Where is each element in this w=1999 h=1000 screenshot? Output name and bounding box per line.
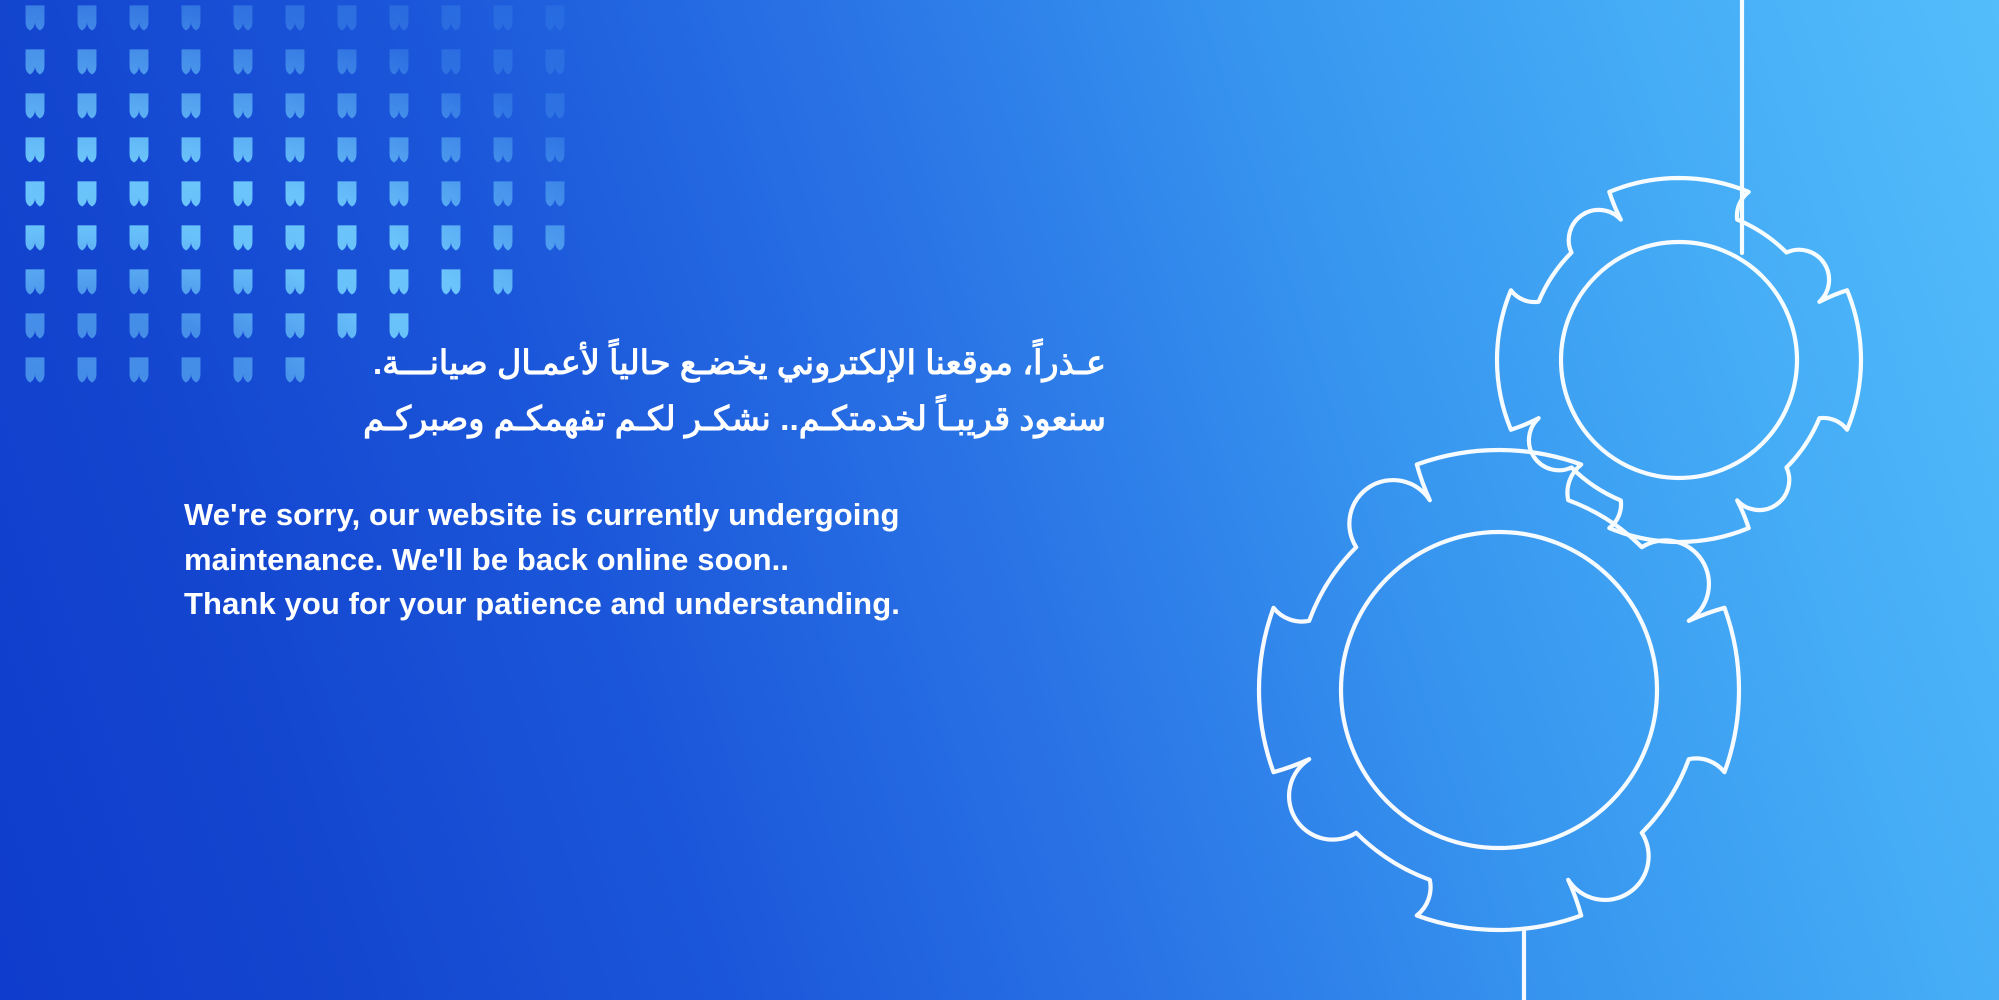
arabic-line-2: سنعود قريبـاً لخدمتكـم.. نشكـر لكـم تفهم… bbox=[184, 392, 1106, 448]
english-line-2: maintenance. We'll be back online soon.. bbox=[184, 538, 1184, 583]
gear-small-teeth bbox=[1497, 178, 1861, 542]
arabic-message: عـذراً، موقعنا الإلكتروني يخضـع حالياً ل… bbox=[184, 336, 1106, 447]
message-block: عـذراً، موقعنا الإلكتروني يخضـع حالياً ل… bbox=[184, 336, 1184, 627]
english-line-3: Thank you for your patience and understa… bbox=[184, 582, 1184, 627]
chevron-dot-grid-pattern bbox=[0, 0, 610, 390]
gear-outline-large bbox=[1259, 450, 1739, 930]
gear-large-hub bbox=[1341, 532, 1657, 848]
arabic-line-1: عـذراً، موقعنا الإلكتروني يخضـع حالياً ل… bbox=[184, 336, 1106, 392]
gear-outline-small bbox=[1497, 178, 1861, 542]
maintenance-page: عـذراً، موقعنا الإلكتروني يخضـع حالياً ل… bbox=[0, 0, 1999, 1000]
english-message: We're sorry, our website is currently un… bbox=[184, 493, 1184, 627]
english-line-1: We're sorry, our website is currently un… bbox=[184, 493, 1184, 538]
gear-small-hub bbox=[1561, 242, 1797, 478]
gear-large-teeth bbox=[1259, 450, 1739, 930]
